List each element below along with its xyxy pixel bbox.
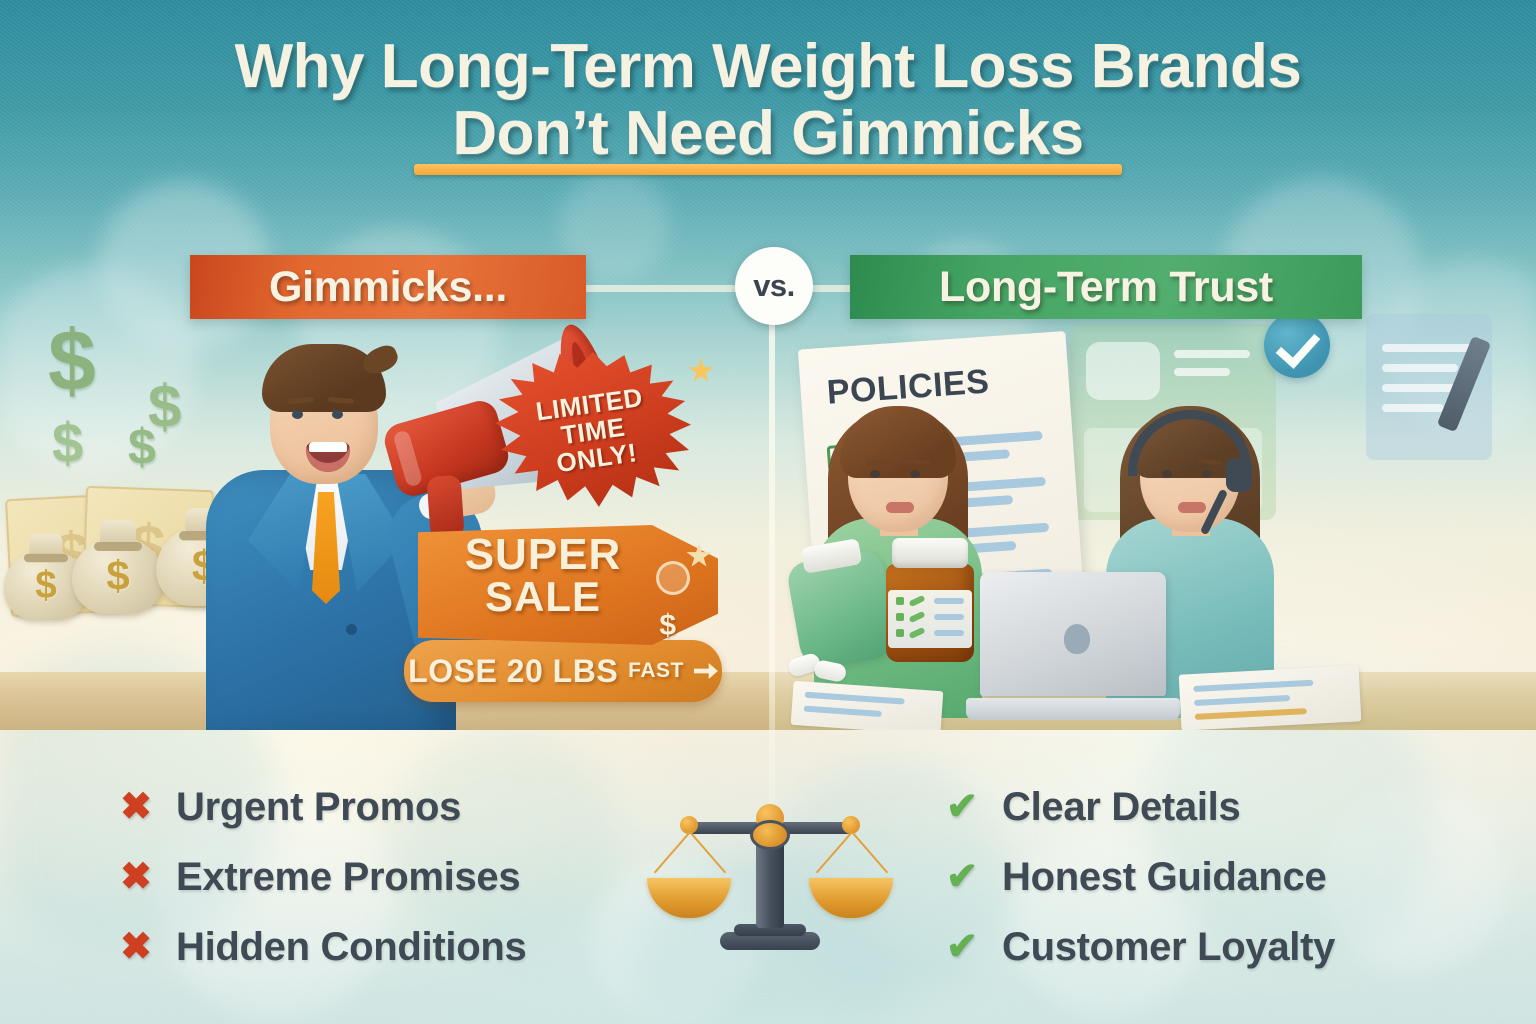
list-item-label: Extreme Promises bbox=[176, 855, 520, 900]
gimmicks-list: ✖ Urgent Promos ✖ Extreme Promises ✖ Hid… bbox=[118, 772, 526, 982]
connector-line-left bbox=[580, 285, 740, 292]
title-line-2: Don’t Need Gimmicks bbox=[0, 101, 1536, 168]
list-item-label: Urgent Promos bbox=[176, 785, 461, 830]
check-icon: ✔ bbox=[944, 858, 980, 896]
ribbon-emphasis: FAST bbox=[628, 659, 684, 683]
balance-scale-icon bbox=[672, 800, 868, 950]
arrow-right-icon bbox=[694, 661, 718, 681]
sale-tag-line-2: SALE bbox=[438, 576, 648, 618]
badge-long-term-trust-label: Long-Term Trust bbox=[939, 263, 1273, 312]
documents-stack bbox=[1179, 665, 1362, 730]
supplement-tube bbox=[785, 548, 898, 671]
vs-label: vs. bbox=[753, 268, 795, 304]
badge-long-term-trust: Long-Term Trust bbox=[850, 255, 1362, 319]
list-item: ✖ Hidden Conditions bbox=[118, 912, 526, 982]
page-title: Why Long-Term Weight Loss Brands Don’t N… bbox=[0, 34, 1536, 168]
badge-gimmicks: Gimmicks... bbox=[190, 255, 586, 319]
policies-title: POLICIES bbox=[826, 362, 991, 412]
ribbon-label: LOSE 20 LBS bbox=[408, 653, 618, 690]
title-line-1: Why Long-Term Weight Loss Brands bbox=[0, 34, 1536, 101]
super-sale-tag: SUPER SALE $ bbox=[418, 525, 718, 645]
sale-tag-line-1: SUPER bbox=[438, 533, 648, 576]
check-icon: ✔ bbox=[944, 928, 980, 966]
dollar-sign-icon: $ bbox=[52, 410, 83, 475]
lose-weight-ribbon: LOSE 20 LBS FAST bbox=[404, 640, 722, 702]
list-item: ✔ Customer Loyalty bbox=[944, 912, 1335, 982]
list-item: ✔ Honest Guidance bbox=[944, 842, 1335, 912]
infographic-poster: Why Long-Term Weight Loss Brands Don’t N… bbox=[0, 0, 1536, 1024]
list-item: ✔ Clear Details bbox=[944, 772, 1335, 842]
center-divider bbox=[769, 300, 775, 830]
vs-circle: vs. bbox=[735, 247, 813, 325]
laptop-logo-icon bbox=[1064, 624, 1090, 654]
check-icon: ✔ bbox=[944, 788, 980, 826]
dollar-sign-icon: $ bbox=[659, 609, 676, 643]
right-illustration-panel: POLICIES bbox=[770, 300, 1536, 730]
dollar-sign-icon: $ bbox=[128, 418, 156, 476]
list-item-label: Honest Guidance bbox=[1002, 855, 1326, 900]
laptop-icon bbox=[966, 572, 1180, 720]
supplement-bottle bbox=[886, 538, 974, 662]
verified-check-badge-icon bbox=[1264, 312, 1330, 378]
cross-icon: ✖ bbox=[118, 858, 154, 896]
list-item: ✖ Extreme Promises bbox=[118, 842, 526, 912]
dollar-sign-icon: $ bbox=[48, 312, 96, 411]
money-bag-icon: $ bbox=[72, 518, 164, 614]
cross-icon: ✖ bbox=[118, 928, 154, 966]
badge-gimmicks-label: Gimmicks... bbox=[269, 263, 507, 312]
list-item-label: Customer Loyalty bbox=[1002, 925, 1335, 970]
pills-icon bbox=[788, 656, 854, 678]
chat-bubble-icon bbox=[1086, 342, 1160, 400]
list-item-label: Hidden Conditions bbox=[176, 925, 526, 970]
tag-hole-icon bbox=[656, 561, 690, 595]
list-item: ✖ Urgent Promos bbox=[118, 772, 526, 842]
list-item-label: Clear Details bbox=[1002, 785, 1240, 830]
limited-time-starburst: LIMITED TIME ONLY! bbox=[495, 352, 691, 510]
trust-list: ✔ Clear Details ✔ Honest Guidance ✔ Cust… bbox=[944, 772, 1335, 982]
cross-icon: ✖ bbox=[118, 788, 154, 826]
